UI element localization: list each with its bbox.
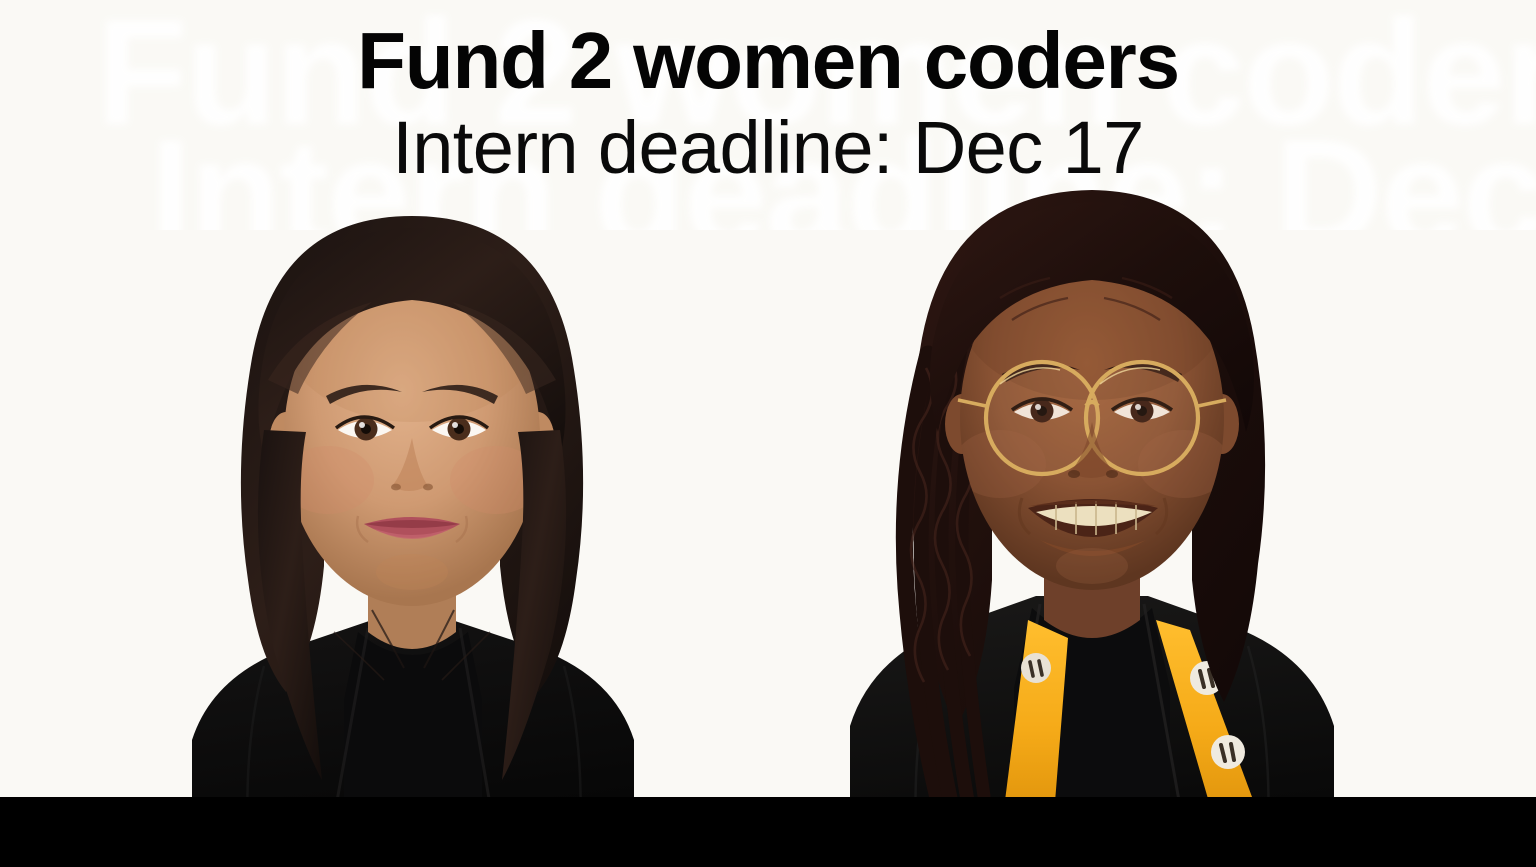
lanyard-badge	[1021, 653, 1051, 683]
lanyard-badge	[1211, 735, 1245, 769]
headline-line-2: Intern deadline: Dec 17	[0, 111, 1536, 185]
headline-line-1: Fund 2 women coders	[0, 23, 1536, 99]
bottom-black-bar	[0, 797, 1536, 867]
headline-block: Fund 2 women coders Intern deadline: Dec…	[0, 0, 1536, 185]
poster-canvas: Fund 2 women coders Intern deadline: Dec…	[0, 0, 1536, 867]
left-portrait-figure	[72, 180, 752, 840]
right-portrait-figure	[700, 168, 1460, 840]
